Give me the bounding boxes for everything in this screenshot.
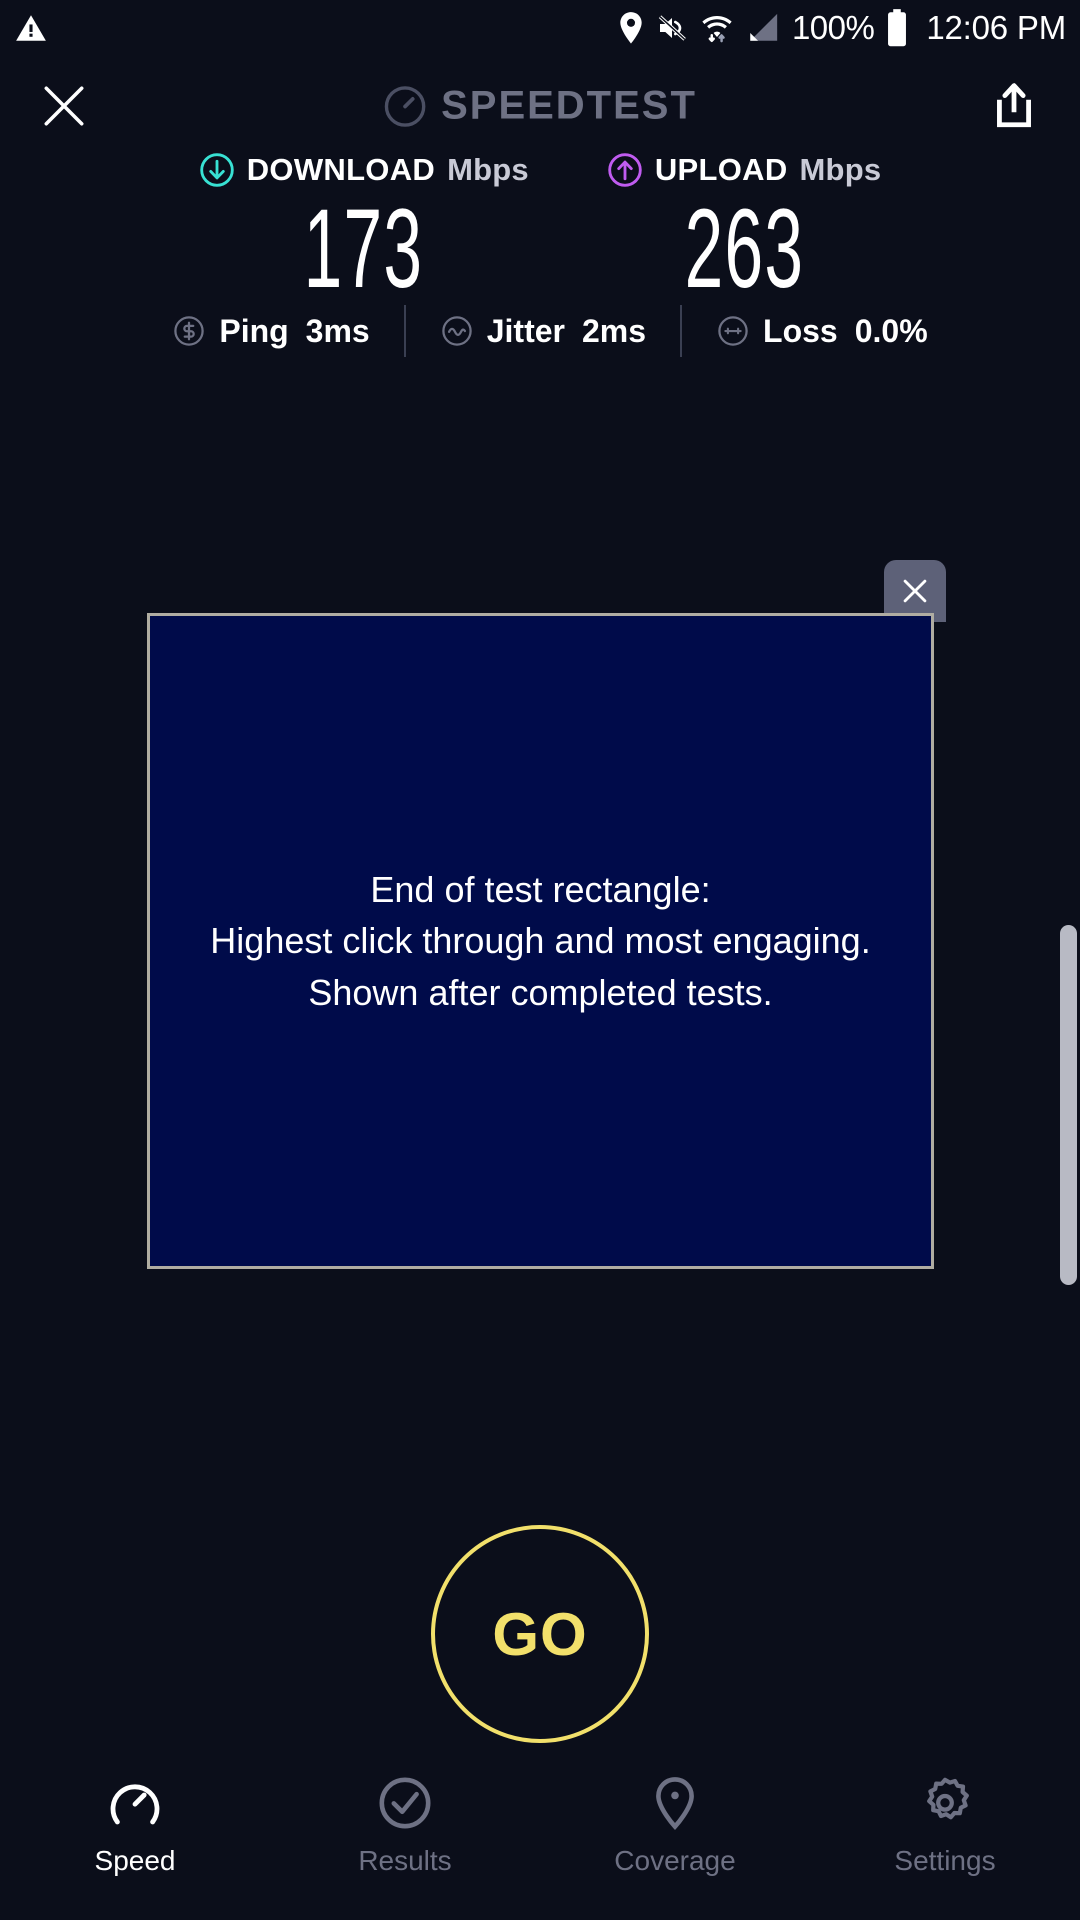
loss-icon [716, 314, 750, 348]
app-header: SPEEDTEST [0, 62, 1080, 150]
ad-line-3: Shown after completed tests. [210, 967, 870, 1018]
nav-item-results[interactable]: Results [270, 1775, 540, 1877]
share-icon [991, 81, 1037, 131]
upload-arrow-icon [607, 152, 643, 188]
test-results-panel: DOWNLOAD Mbps 173 UPLOAD [0, 148, 1080, 310]
jitter-icon [440, 314, 474, 348]
nav-label-settings: Settings [894, 1845, 995, 1877]
battery-percent-label: 100% [792, 9, 874, 47]
gear-icon [917, 1775, 973, 1831]
share-button[interactable] [986, 78, 1042, 134]
upload-label: UPLOAD [655, 152, 788, 188]
ad-line-2: Highest click through and most engaging. [210, 915, 870, 966]
ad-text-block: End of test rectangle: Highest click thr… [210, 864, 870, 1017]
brand-title: SPEEDTEST [441, 84, 697, 129]
metric-divider [680, 305, 682, 357]
loss-value: 0.0% [855, 313, 928, 350]
metric-divider [404, 305, 406, 357]
upload-value: 263 [684, 190, 804, 308]
download-label: DOWNLOAD [247, 152, 435, 188]
nav-label-coverage: Coverage [614, 1845, 735, 1877]
close-icon [898, 574, 932, 608]
nav-item-speed[interactable]: Speed [0, 1775, 270, 1877]
nav-label-speed: Speed [95, 1845, 176, 1877]
nav-item-settings[interactable]: Settings [810, 1775, 1080, 1877]
metric-jitter: Jitter 2ms [440, 313, 646, 350]
ad-line-1: End of test rectangle: [210, 864, 870, 915]
upload-unit: Mbps [800, 152, 882, 188]
go-button-label: GO [492, 1600, 587, 1669]
ping-icon [172, 314, 206, 348]
upload-value-wrap: 263 [648, 192, 841, 310]
download-value: 173 [304, 190, 424, 308]
bottom-navigation-bar: Speed Results Coverage [0, 1765, 1080, 1920]
download-value-wrap: 173 [267, 192, 460, 310]
download-upload-row: DOWNLOAD Mbps 173 UPLOAD [0, 148, 1080, 310]
status-bar-left [14, 11, 48, 45]
status-bar-right: 100% 12:06 PM [618, 9, 1066, 47]
check-circle-icon [377, 1775, 433, 1831]
metric-ping: Ping 3ms [172, 313, 369, 350]
download-arrow-icon [199, 152, 235, 188]
speedometer-icon [107, 1775, 163, 1831]
mute-icon [656, 12, 688, 44]
speedometer-icon [383, 84, 427, 128]
nav-label-results: Results [358, 1845, 451, 1877]
status-bar: 100% 12:06 PM [0, 0, 1080, 56]
go-button[interactable]: GO [431, 1525, 649, 1743]
speedtest-app-screen: 100% 12:06 PM [0, 0, 1080, 1920]
network-metrics-row: Ping 3ms Jitter 2ms [0, 298, 1080, 364]
jitter-label: Jitter [487, 313, 565, 350]
close-button[interactable] [36, 78, 92, 134]
ping-value: 3ms [306, 313, 370, 350]
brand-logo: SPEEDTEST [383, 84, 697, 129]
download-result: DOWNLOAD Mbps 173 [199, 148, 529, 310]
wifi-icon [700, 11, 734, 45]
location-pin-icon [647, 1775, 703, 1831]
close-icon [39, 81, 89, 131]
warning-triangle-icon [14, 11, 48, 45]
vertical-scrollbar[interactable] [1060, 925, 1077, 1285]
jitter-value: 2ms [582, 313, 646, 350]
cell-signal-icon [746, 12, 780, 44]
loss-label: Loss [763, 313, 838, 350]
advertisement-banner[interactable]: End of test rectangle: Highest click thr… [147, 613, 934, 1269]
battery-full-icon [886, 9, 908, 47]
clock-label: 12:06 PM [926, 9, 1066, 47]
location-pin-icon [618, 11, 644, 45]
download-unit: Mbps [447, 152, 529, 188]
nav-item-coverage[interactable]: Coverage [540, 1775, 810, 1877]
ping-label: Ping [219, 313, 288, 350]
metric-loss: Loss 0.0% [716, 313, 928, 350]
upload-result: UPLOAD Mbps 263 [607, 148, 881, 310]
